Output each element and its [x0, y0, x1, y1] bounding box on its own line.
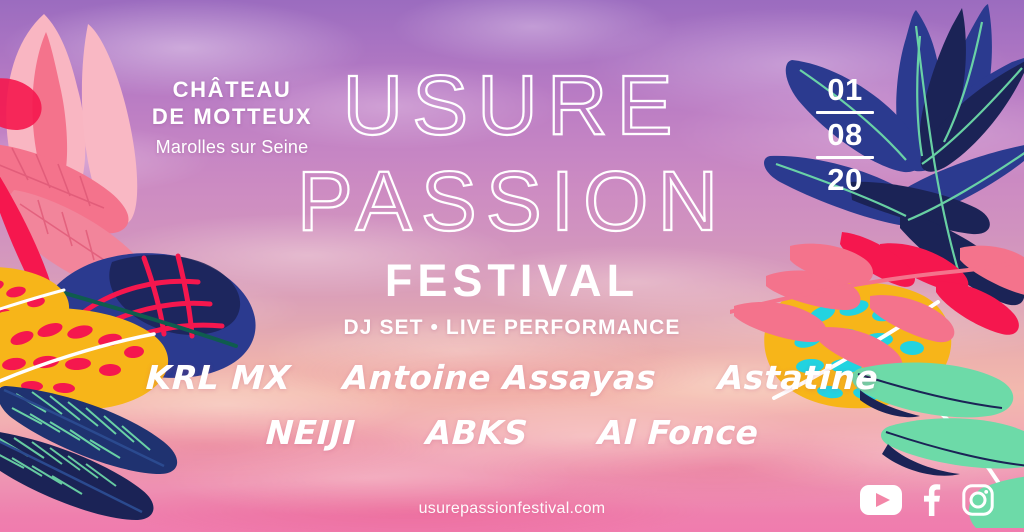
festival-wordmark: USURE PASSION	[162, 62, 862, 252]
tagline: DJ SET • LIVE PERFORMANCE	[0, 316, 1024, 340]
facebook-glyph	[922, 484, 942, 516]
festival-poster: CHÂTEAU DE MOTTEUX Marolles sur Seine 01…	[0, 0, 1024, 532]
artist-name: Antoine Assayas	[342, 358, 657, 397]
artist-name: Al Fonce	[597, 413, 759, 452]
lineup-block: KRL MX Antoine Assayas Astatine NEIJI AB…	[0, 358, 1024, 452]
instagram-glyph	[962, 484, 994, 516]
title-line-passion: PASSION	[297, 154, 727, 248]
artist-name: NEIJI	[265, 413, 357, 452]
festival-title-block: USURE PASSION FESTIVAL	[0, 62, 1024, 303]
youtube-icon[interactable]	[860, 485, 902, 515]
title-line-usure: USURE	[342, 62, 681, 152]
artist-name: ABKS	[424, 413, 528, 452]
lineup-row-1: KRL MX Antoine Assayas Astatine	[0, 358, 1024, 397]
instagram-icon[interactable]	[962, 484, 994, 516]
artist-name: KRL MX	[145, 358, 292, 397]
title-line-festival: FESTIVAL	[0, 258, 1024, 303]
facebook-icon[interactable]	[922, 484, 942, 516]
lineup-row-2: NEIJI ABKS Al Fonce	[0, 413, 1024, 452]
artist-name: Astatine	[717, 358, 879, 397]
social-links	[860, 484, 994, 516]
youtube-glyph	[860, 485, 902, 515]
